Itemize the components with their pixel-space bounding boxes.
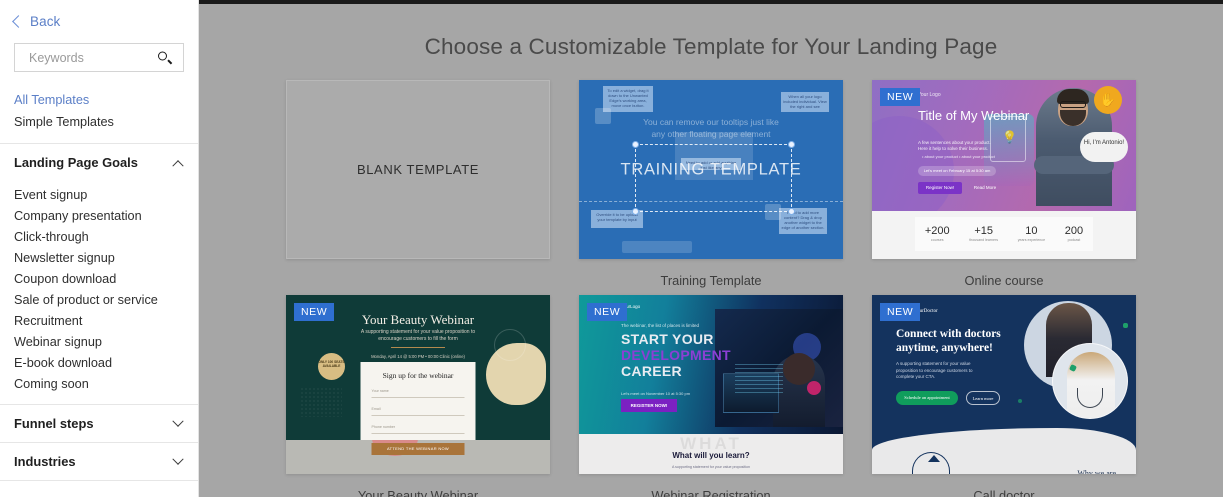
training-overlay-text: TRAINING TEMPLATE bbox=[621, 160, 802, 179]
decorative-dot bbox=[1018, 399, 1022, 403]
search-box[interactable] bbox=[14, 43, 184, 72]
template-thumbnail-beauty-webinar[interactable]: NEW Your Beauty Webinar A supporting sta… bbox=[286, 295, 550, 474]
resize-handle-bottom-left[interactable] bbox=[632, 208, 639, 215]
hero-subtitle: A supporting statement for your value pr… bbox=[896, 361, 988, 381]
stat-item: 10 years experience bbox=[1018, 225, 1045, 243]
hero-subtitle: A supporting statement for your value pr… bbox=[353, 329, 483, 343]
sidebar-item-ebook-download[interactable]: E-book download bbox=[14, 353, 198, 374]
sidebar-item-event-signup[interactable]: Event signup bbox=[14, 185, 198, 206]
stats-row: +200 courses +15 thousand learners 10 ye… bbox=[915, 217, 1093, 251]
sidebar-item-click-through[interactable]: Click-through bbox=[14, 227, 198, 248]
lightbulb-icon: 💡 bbox=[1002, 130, 1017, 144]
template-card-webinar-registration[interactable]: NEW YourLogo The webinar, the list of pl… bbox=[579, 295, 843, 497]
hero-kicker: The webinar, the list of places is limit… bbox=[621, 323, 699, 328]
section-header-industries[interactable]: Industries bbox=[0, 443, 198, 480]
stat-label: podcast bbox=[1065, 238, 1083, 243]
template-thumbnail-training[interactable]: You can remove our tooltips just like an… bbox=[579, 80, 843, 259]
stat-number: 200 bbox=[1065, 225, 1083, 237]
main-content: Choose a Customizable Template for Your … bbox=[199, 0, 1223, 497]
template-card-beauty-webinar[interactable]: NEW Your Beauty Webinar A supporting sta… bbox=[286, 295, 550, 497]
stat-label: thousand learners bbox=[969, 238, 998, 243]
stats-bar: +200 courses +15 thousand learners 10 ye… bbox=[872, 211, 1136, 259]
date-pill: Let's meet on February 15 at 5:30 am bbox=[918, 166, 996, 176]
hero-subtitle: A few sentences about your product. Here… bbox=[918, 140, 993, 152]
sidebar: Back All Templates Simple Templates Land… bbox=[0, 0, 199, 497]
template-label-webinar-registration: Webinar Registration bbox=[579, 474, 843, 497]
sidebar-item-webinar-signup[interactable]: Webinar signup bbox=[14, 332, 198, 353]
doctor-portrait-ring bbox=[1052, 343, 1128, 419]
bottom-text: Why we are bbox=[1077, 469, 1116, 474]
template-thumbnail-webinar-registration[interactable]: NEW YourLogo The webinar, the list of pl… bbox=[579, 295, 843, 474]
new-badge: NEW bbox=[880, 88, 920, 106]
hero-person-head bbox=[783, 353, 815, 385]
template-label-online-course: Online course bbox=[872, 259, 1136, 295]
cta-schedule-button[interactable]: Schedule an appointment bbox=[896, 391, 958, 405]
search-input[interactable] bbox=[15, 44, 140, 71]
event-meta: Let's meet on November 10 at 5:30 pm bbox=[621, 391, 690, 396]
sidebar-item-all-templates[interactable]: All Templates bbox=[14, 89, 198, 111]
template-grid: BLANK TEMPLATE You can remove our toolti… bbox=[199, 60, 1223, 497]
form-field-phone[interactable]: Phone number bbox=[372, 425, 465, 434]
stat-label: years experience bbox=[1018, 238, 1045, 243]
page-title: Choose a Customizable Template for Your … bbox=[199, 4, 1223, 60]
hero-bullets: • about your product • about your produc… bbox=[922, 154, 995, 160]
template-card-blank[interactable]: BLANK TEMPLATE bbox=[286, 80, 550, 295]
hero-title: Connect with doctors anytime, anywhere! bbox=[896, 327, 1011, 355]
template-label-call-doctor: Call doctor bbox=[872, 474, 1136, 497]
form-field-email[interactable]: Email bbox=[372, 407, 465, 416]
search-container bbox=[0, 32, 198, 72]
resize-handle-bottom-right[interactable] bbox=[788, 208, 795, 215]
cta-register-button[interactable]: REGISTER NOW! bbox=[621, 399, 677, 412]
stat-number: +15 bbox=[969, 225, 998, 237]
new-badge: NEW bbox=[587, 303, 627, 321]
decorative-circle bbox=[807, 381, 821, 395]
stat-number: +200 bbox=[925, 225, 950, 237]
chevron-up-icon[interactable] bbox=[172, 160, 183, 171]
section-title: Landing Page Goals bbox=[14, 155, 138, 170]
section-header-funnel-steps[interactable]: Funnel steps bbox=[0, 405, 198, 442]
event-meta: Monday, April 14 @ 5:00 PM • 00:00 Clini… bbox=[371, 354, 465, 359]
code-screen bbox=[723, 373, 779, 413]
primary-nav: All Templates Simple Templates bbox=[0, 72, 198, 143]
sidebar-item-company-presentation[interactable]: Company presentation bbox=[14, 206, 198, 227]
editor-toolbar[interactable] bbox=[622, 241, 692, 253]
hero-headline-line3: CAREER bbox=[621, 363, 682, 379]
resize-handle-top-left[interactable] bbox=[632, 141, 639, 148]
sidebar-item-coupon-download[interactable]: Coupon download bbox=[14, 269, 198, 290]
cta-learn-more-button[interactable]: Learn more bbox=[966, 391, 1000, 405]
chevron-left-icon bbox=[12, 15, 25, 28]
search-icon[interactable] bbox=[158, 51, 171, 64]
sidebar-item-simple-templates[interactable]: Simple Templates bbox=[14, 111, 198, 133]
hero-person-doctor bbox=[1067, 352, 1115, 419]
template-thumbnail-online-course[interactable]: NEW Your Logo Title of My Webinar A few … bbox=[872, 80, 1136, 259]
tooltip-top-right: When all your logo included individual. … bbox=[781, 92, 829, 112]
new-badge: NEW bbox=[294, 303, 334, 321]
hero-photo bbox=[715, 309, 843, 427]
stat-number: 10 bbox=[1018, 225, 1045, 237]
blank-template-label: BLANK TEMPLATE bbox=[357, 162, 479, 177]
hero-headline-line1: START YOUR bbox=[621, 331, 714, 347]
hand-icon: ✋ bbox=[1094, 86, 1122, 114]
template-label-training: Training Template bbox=[579, 259, 843, 295]
form-title: Sign up for the webinar bbox=[361, 362, 476, 380]
template-card-call-doctor[interactable]: NEW YourDoctor Connect with doctors anyt… bbox=[872, 295, 1136, 497]
template-picker-app: Back All Templates Simple Templates Land… bbox=[0, 0, 1223, 497]
section-header-landing-page-goals[interactable]: Landing Page Goals bbox=[0, 144, 198, 181]
sidebar-item-sale-of-product-or-service[interactable]: Sale of product or service bbox=[14, 290, 198, 311]
template-card-online-course[interactable]: NEW Your Logo Title of My Webinar A few … bbox=[872, 80, 1136, 295]
brand-logo: Your Logo bbox=[918, 92, 941, 98]
bottom-wave-section: Why we are bbox=[872, 428, 1136, 474]
sidebar-item-newsletter-signup[interactable]: Newsletter signup bbox=[14, 248, 198, 269]
template-thumbnail-call-doctor[interactable]: NEW YourDoctor Connect with doctors anyt… bbox=[872, 295, 1136, 474]
arrow-icon bbox=[928, 455, 940, 462]
chevron-down-icon[interactable] bbox=[172, 415, 183, 426]
stat-item: 200 podcast bbox=[1065, 225, 1083, 243]
signup-form[interactable]: Sign up for the webinar Your name Email … bbox=[361, 362, 476, 440]
form-submit-button[interactable]: ATTEND THE WEBINAR NOW bbox=[372, 443, 465, 455]
template-label-beauty-webinar: Your Beauty Webinar bbox=[286, 474, 550, 497]
sidebar-item-recruitment[interactable]: Recruitment bbox=[14, 311, 198, 332]
section-items-landing-page-goals: Event signup Company presentation Click-… bbox=[0, 181, 198, 404]
stat-item: +15 thousand learners bbox=[969, 225, 998, 243]
sidebar-item-coming-soon[interactable]: Coming soon bbox=[14, 374, 198, 395]
decorative-dot bbox=[1123, 323, 1128, 328]
decorative-circle bbox=[494, 329, 526, 361]
cta-primary-button[interactable]: Register Now! bbox=[918, 182, 962, 194]
code-lines bbox=[735, 364, 783, 394]
new-badge: NEW bbox=[880, 303, 920, 321]
resize-handle-top-right[interactable] bbox=[788, 141, 795, 148]
template-label-blank bbox=[286, 259, 550, 295]
stat-item: +200 courses bbox=[925, 225, 950, 243]
divider bbox=[0, 480, 198, 481]
template-thumbnail-blank[interactable]: BLANK TEMPLATE bbox=[286, 80, 550, 259]
decorative-dot-pattern bbox=[300, 387, 342, 417]
back-label: Back bbox=[30, 14, 60, 29]
section-title: Industries bbox=[14, 454, 76, 469]
chevron-down-icon[interactable] bbox=[172, 453, 183, 464]
divider bbox=[391, 347, 445, 348]
template-card-training[interactable]: You can remove our tooltips just like an… bbox=[579, 80, 843, 295]
speech-bubble: Hi, I'm Antonio! bbox=[1080, 132, 1128, 162]
form-field-name[interactable]: Your name bbox=[372, 389, 465, 398]
bottom-section: WHAT What will you learn? A supporting s… bbox=[579, 434, 843, 474]
bottom-title: What will you learn? bbox=[579, 451, 843, 460]
cta-secondary-button[interactable]: Read More bbox=[968, 182, 1002, 194]
widget-icon-text bbox=[595, 108, 611, 124]
bottom-subtitle: A supporting statement for your value pr… bbox=[579, 465, 843, 469]
glasses-icon bbox=[1060, 101, 1086, 108]
hero-headline-line2: DEVELOPMENT bbox=[621, 347, 731, 363]
stat-label: courses bbox=[925, 238, 950, 243]
seats-badge: ONLY 100 SEATS AVAILABLE bbox=[318, 353, 345, 380]
back-button[interactable]: Back bbox=[0, 0, 198, 32]
section-title: Funnel steps bbox=[14, 416, 94, 431]
